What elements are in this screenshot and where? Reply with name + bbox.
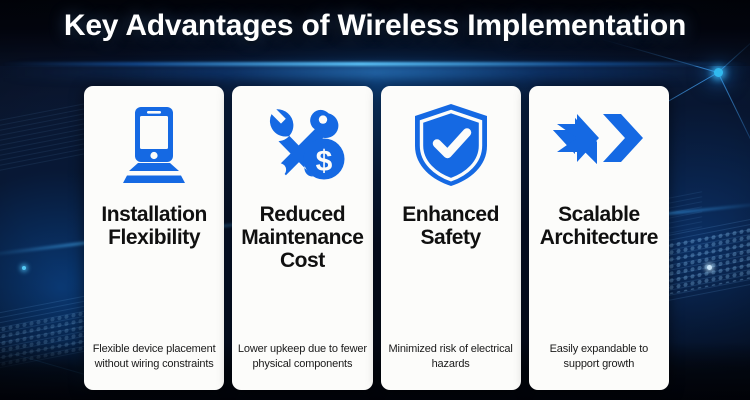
wrench-screwdriver-dollar-icon: $ [232,86,372,204]
card-title: Installation Flexibility [84,204,224,250]
advantage-card-reduced-maintenance-cost[interactable]: $ Reduced Maintenance Cost Lower upkeep … [232,86,372,390]
svg-text:$: $ [316,145,333,178]
card-title: Reduced Maintenance Cost [232,204,372,273]
infographic-slide: Key Advantages of Wireless Implementatio… [0,0,750,400]
card-title: Enhanced Safety [381,204,521,250]
shield-check-icon [381,86,521,204]
advantage-card-enhanced-safety[interactable]: Enhanced Safety Minimized risk of electr… [381,86,521,390]
tablet-on-stand-icon [84,86,224,204]
card-description: Lower upkeep due to fewer physical compo… [232,342,372,372]
page-title: Key Advantages of Wireless Implementatio… [0,9,750,43]
advantage-card-list: Installation Flexibility Flexible device… [84,86,669,390]
card-description: Flexible device placement without wiring… [84,342,224,372]
double-chevron-forward-icon [529,86,669,204]
advantage-card-scalable-architecture[interactable]: Scalable Architecture Easily expandable … [529,86,669,390]
advantage-card-installation-flexibility[interactable]: Installation Flexibility Flexible device… [84,86,224,390]
card-title: Scalable Architecture [529,204,669,250]
card-description: Minimized risk of electrical hazards [381,342,521,372]
card-description: Easily expandable to support growth [529,342,669,372]
